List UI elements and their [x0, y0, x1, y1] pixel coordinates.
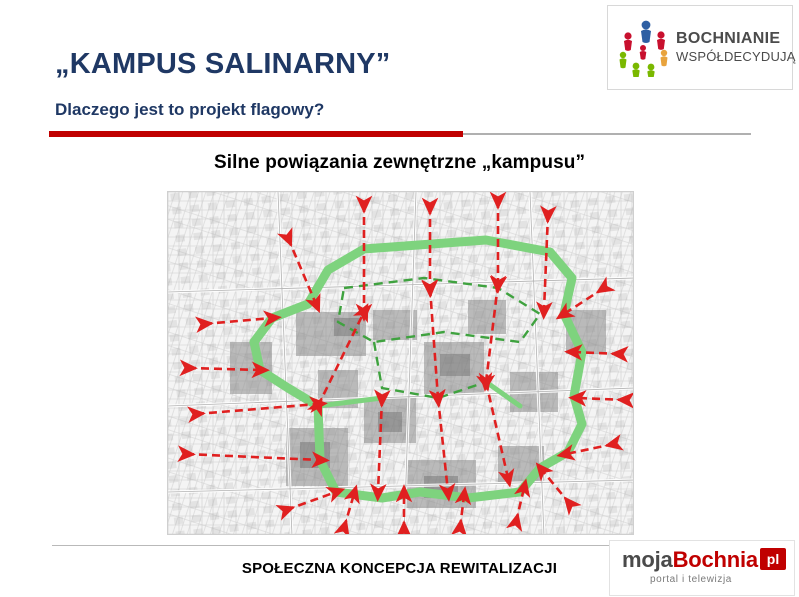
logo-line2: WSPÓŁDECYDUJĄ [676, 49, 788, 65]
logo-inner: BOCHNIANIE WSPÓŁDECYDUJĄ [608, 6, 792, 89]
cadastral-map-svg [168, 192, 634, 535]
mojabochnia-word2: Bochnia [673, 547, 758, 572]
logo-text: BOCHNIANIE WSPÓŁDECYDUJĄ [676, 30, 788, 65]
section-heading: Silne powiązania zewnętrzne „kampusu” [0, 152, 799, 174]
bochnianie-logo: BOCHNIANIE WSPÓŁDECYDUJĄ [607, 5, 793, 90]
map-image [167, 191, 634, 535]
logo-line1: BOCHNIANIE [676, 30, 788, 48]
title-rule-red [49, 131, 463, 137]
mojabochnia-tagline: portal i telewizja [650, 574, 732, 585]
page-title: „KAMPUS SALINARNY” [55, 48, 391, 81]
page-subtitle: Dlaczego jest to projekt flagowy? [55, 100, 324, 120]
title-rule-grey [463, 133, 751, 135]
mojabochnia-logo: mojaBochnia pl portal i telewizja [609, 540, 795, 596]
people-mark-icon [616, 19, 672, 77]
mojabochnia-wordmark: mojaBochnia [622, 547, 758, 573]
slide-root: BOCHNIANIE WSPÓŁDECYDUJĄ „KAMPUS SALINAR… [0, 0, 799, 597]
mojabochnia-badge: pl [760, 548, 786, 570]
mojabochnia-word1: moja [622, 547, 673, 572]
